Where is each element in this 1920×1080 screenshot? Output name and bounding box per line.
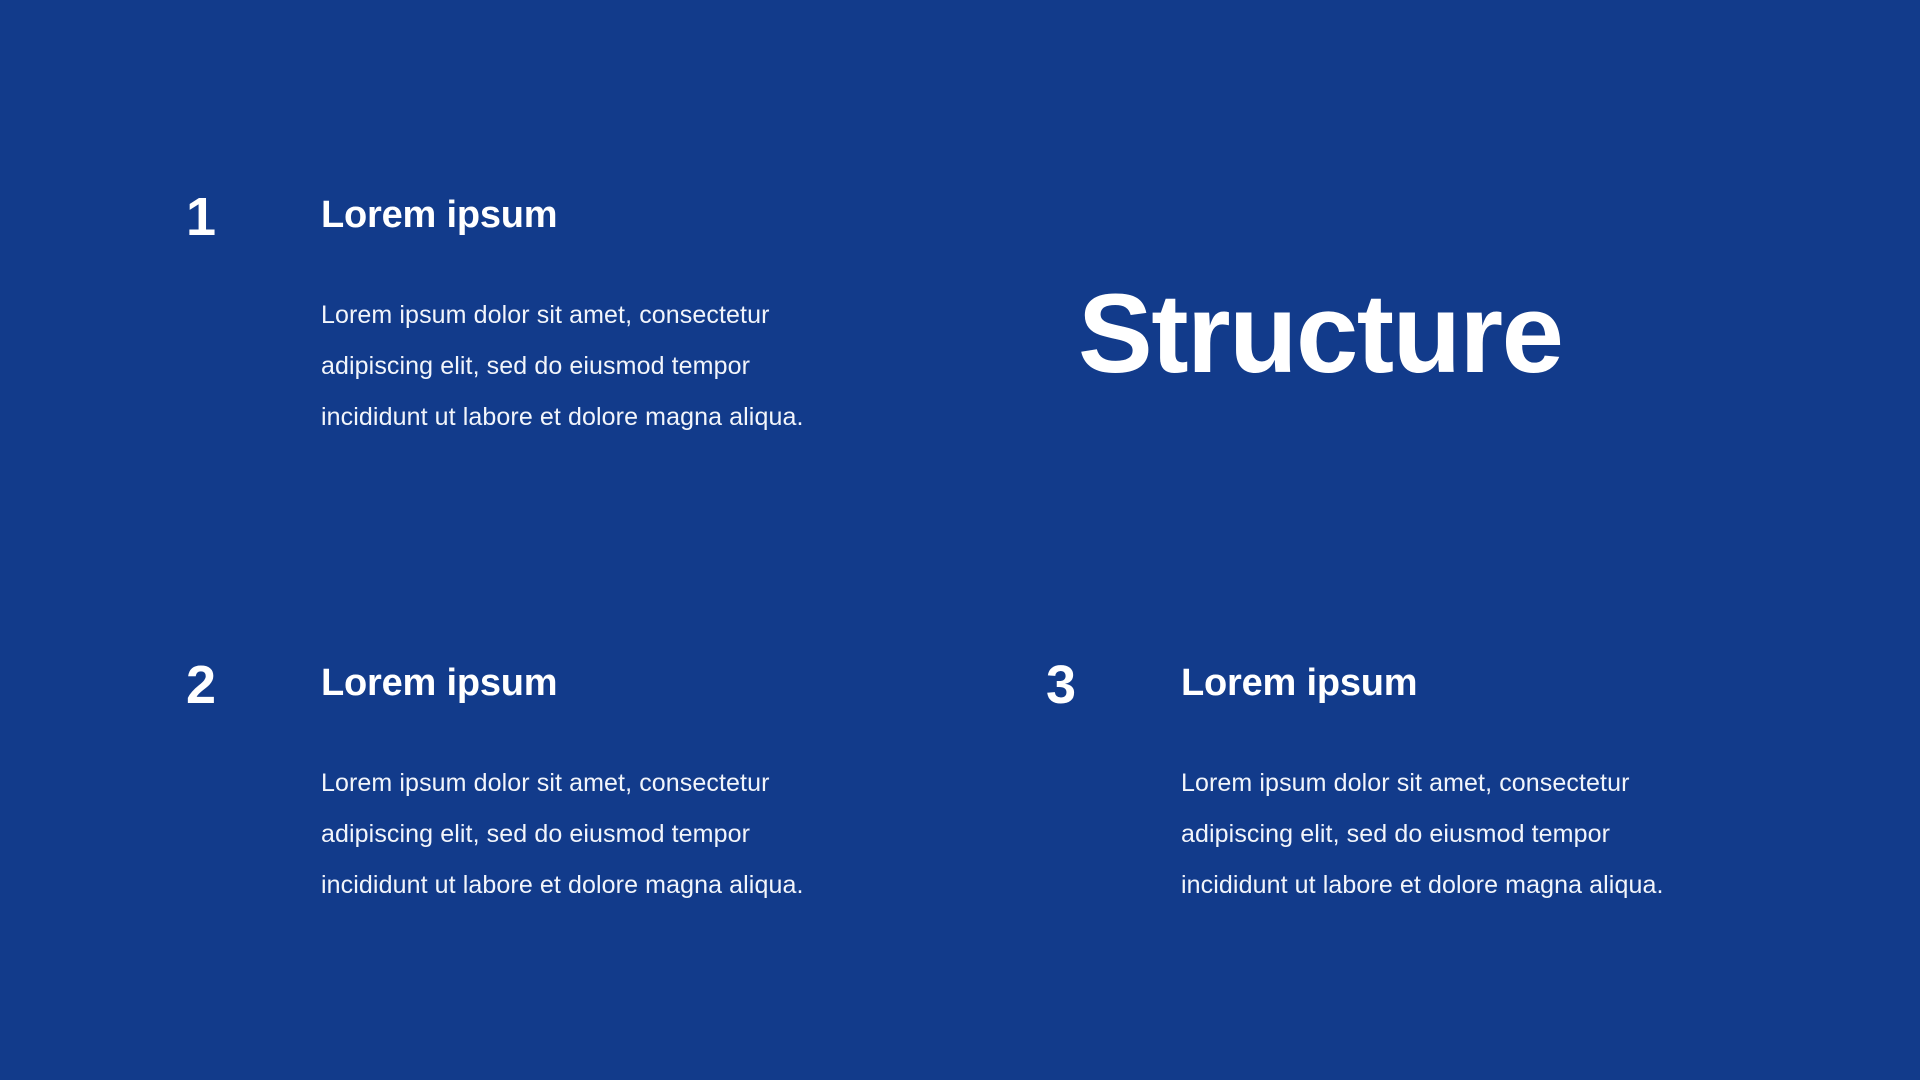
- item-heading: Lorem ipsum: [321, 662, 557, 706]
- numbered-item-1: 1 Lorem ipsum Lorem ipsum dolor sit amet…: [186, 190, 706, 252]
- item-header: 1 Lorem ipsum: [186, 190, 706, 252]
- numbered-item-3: 3 Lorem ipsum Lorem ipsum dolor sit amet…: [1046, 658, 1566, 720]
- item-body-text: Lorem ipsum dolor sit amet, consectetur …: [321, 758, 821, 910]
- item-number-badge: 3: [1046, 658, 1076, 712]
- item-body-text: Lorem ipsum dolor sit amet, consectetur …: [321, 290, 821, 442]
- item-body-text: Lorem ipsum dolor sit amet, consectetur …: [1181, 758, 1681, 910]
- item-number-badge: 2: [186, 658, 216, 712]
- item-heading: Lorem ipsum: [321, 194, 557, 238]
- item-header: 2 Lorem ipsum: [186, 658, 706, 720]
- numbered-item-2: 2 Lorem ipsum Lorem ipsum dolor sit amet…: [186, 658, 706, 720]
- page-title: Structure: [1078, 278, 1562, 390]
- item-number-badge: 1: [186, 190, 216, 244]
- item-heading: Lorem ipsum: [1181, 662, 1417, 706]
- item-header: 3 Lorem ipsum: [1046, 658, 1566, 720]
- slide-canvas: Structure 1 Lorem ipsum Lorem ipsum dolo…: [0, 0, 1920, 1080]
